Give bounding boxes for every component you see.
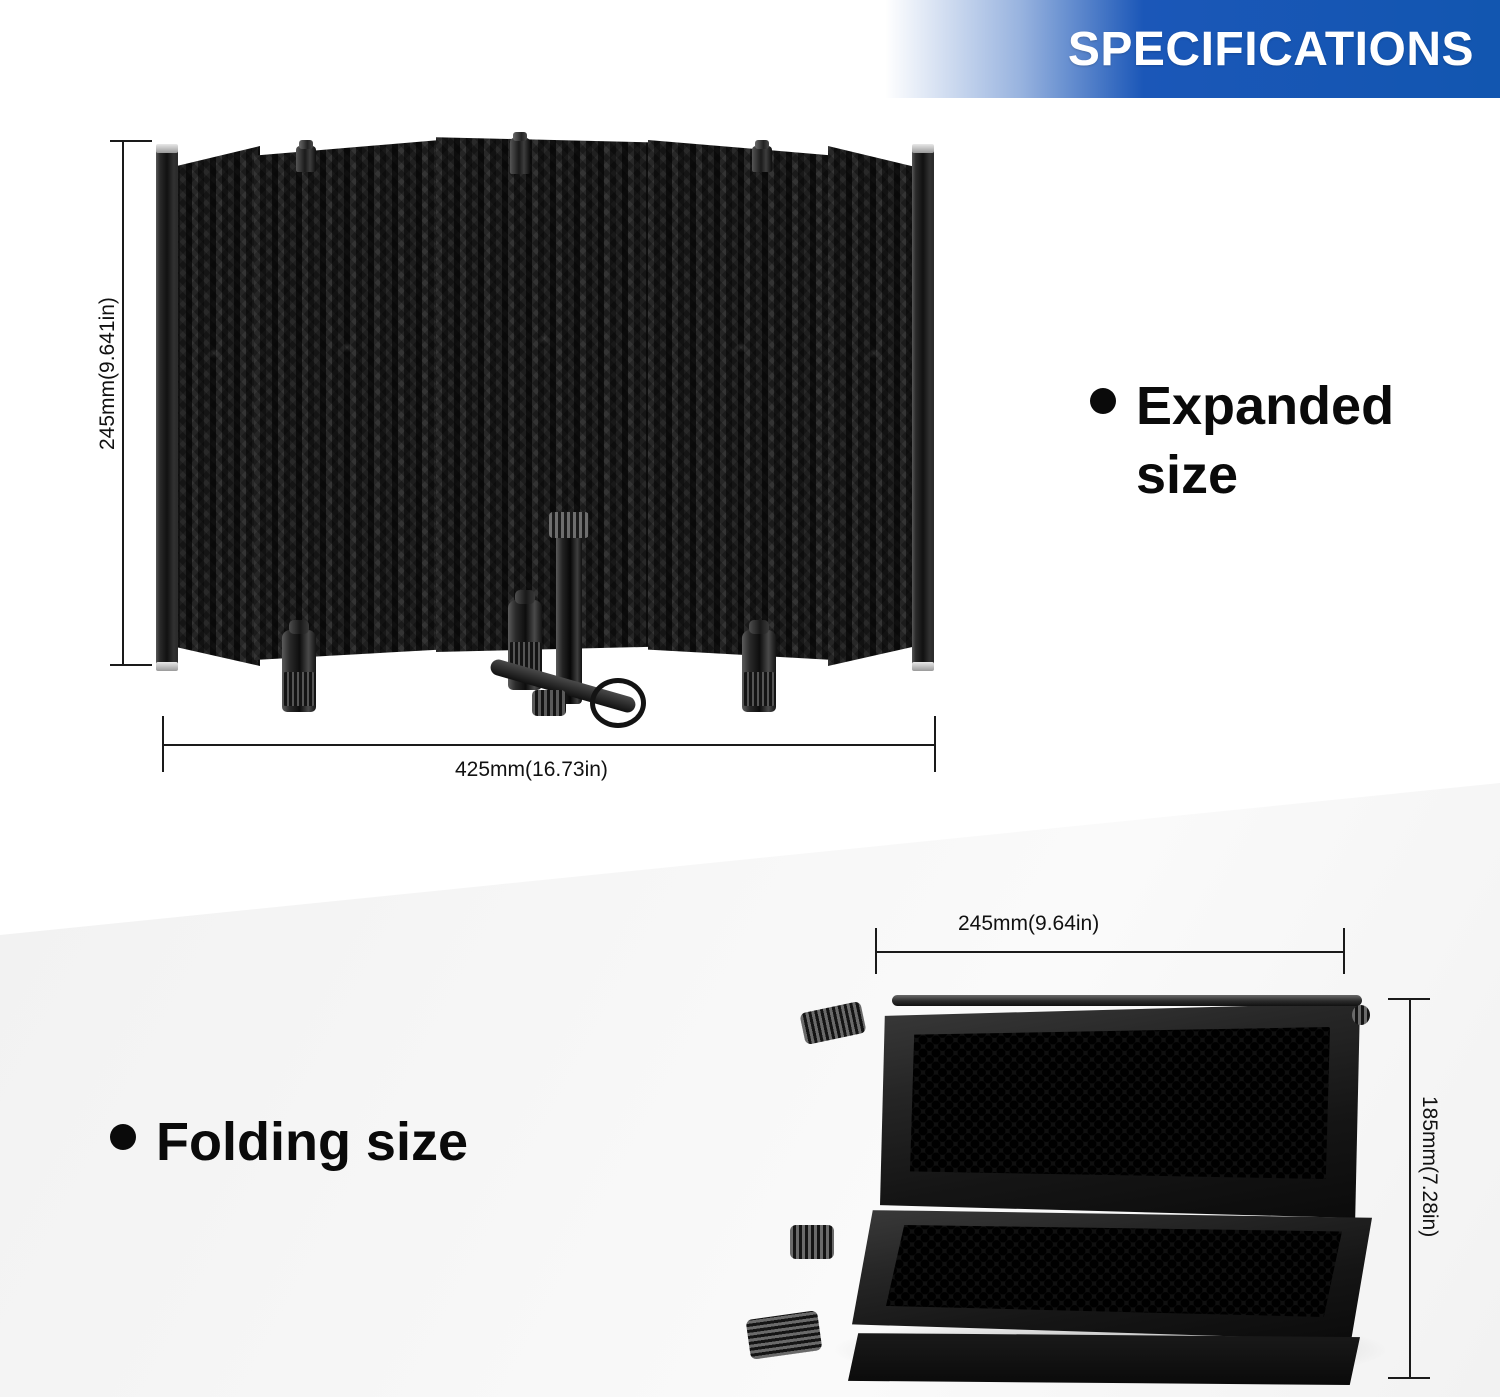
acoustic-foam-texture — [648, 140, 834, 660]
shield-mount-knob — [532, 690, 566, 716]
dimension-tick-expanded-height-bottom — [110, 664, 152, 666]
dimension-tick-folded-height-bottom — [1388, 1377, 1430, 1379]
shield-rail-cap-left-bottom — [156, 662, 178, 671]
dimension-line-expanded-width — [162, 744, 936, 746]
folded-knob-top-left — [799, 1001, 866, 1045]
shield-wing-right-inner — [648, 140, 834, 660]
caption-expanded-size: Expanded size — [1090, 372, 1486, 510]
shield-wing-right-outer — [828, 146, 920, 666]
folded-panel-upright-perforation — [910, 1027, 1330, 1179]
shield-foot-left — [282, 630, 316, 712]
dimension-tick-expanded-height-top — [110, 140, 152, 142]
shield-side-rail-right — [912, 148, 934, 668]
dimension-tick-folded-width-right — [1343, 928, 1345, 974]
bullet-dot-icon — [1090, 388, 1116, 414]
dimension-tick-folded-height-top — [1388, 998, 1430, 1000]
folded-hinge-rod-top — [892, 995, 1362, 1006]
shield-rail-cap-right-top — [912, 144, 934, 153]
shield-top-knob-left — [296, 146, 316, 172]
bullet-dot-icon — [110, 1124, 136, 1150]
product-image-expanded-shield — [150, 130, 940, 675]
acoustic-foam-texture — [254, 140, 440, 660]
dimension-tick-folded-width-left — [875, 928, 877, 974]
dimension-line-expanded-height — [122, 140, 124, 666]
specification-graphic: SPECIFICATIONS — [0, 0, 1500, 1397]
caption-folding-size: Folding size — [110, 1108, 468, 1177]
shield-wing-left-outer — [168, 146, 260, 666]
dimension-label-folded-height: 185mm(7.28in) — [1417, 1096, 1441, 1237]
shield-foot-right — [742, 630, 776, 712]
shield-mount-ring — [590, 678, 646, 728]
shield-panel-center — [436, 132, 652, 652]
folded-base-band — [848, 1333, 1360, 1385]
banner-title: SPECIFICATIONS — [1068, 22, 1500, 77]
shield-rail-cap-right-bottom — [912, 662, 934, 671]
shield-side-rail-left — [156, 148, 178, 668]
dimension-label-expanded-height: 245mm(9.641in) — [96, 297, 120, 450]
folded-panel-flat-perforation — [886, 1225, 1342, 1317]
shield-rail-cap-left-top — [156, 144, 178, 153]
dimension-line-folded-width — [875, 951, 1345, 953]
shield-top-knob-center — [510, 138, 530, 174]
folded-knob-bottom — [746, 1310, 823, 1360]
acoustic-foam-texture — [828, 146, 920, 666]
caption-folding-label: Folding size — [156, 1108, 468, 1177]
dimension-label-folded-width: 245mm(9.64in) — [958, 912, 1099, 936]
dimension-label-expanded-width: 425mm(16.73in) — [455, 758, 608, 782]
dimension-tick-expanded-width-left — [162, 716, 164, 772]
shield-wing-left-inner — [254, 140, 440, 660]
acoustic-foam-texture — [436, 132, 652, 652]
dimension-line-folded-height — [1409, 998, 1411, 1378]
folded-knob-mid-left — [790, 1225, 834, 1259]
dimension-tick-expanded-width-right — [934, 716, 936, 772]
product-image-folded-shield — [800, 985, 1420, 1385]
caption-expanded-label: Expanded size — [1136, 372, 1486, 510]
folded-hinge-pin-right — [1352, 1005, 1370, 1025]
specifications-banner: SPECIFICATIONS — [885, 0, 1500, 98]
shield-top-knob-right — [752, 146, 772, 172]
acoustic-foam-texture — [168, 146, 260, 666]
